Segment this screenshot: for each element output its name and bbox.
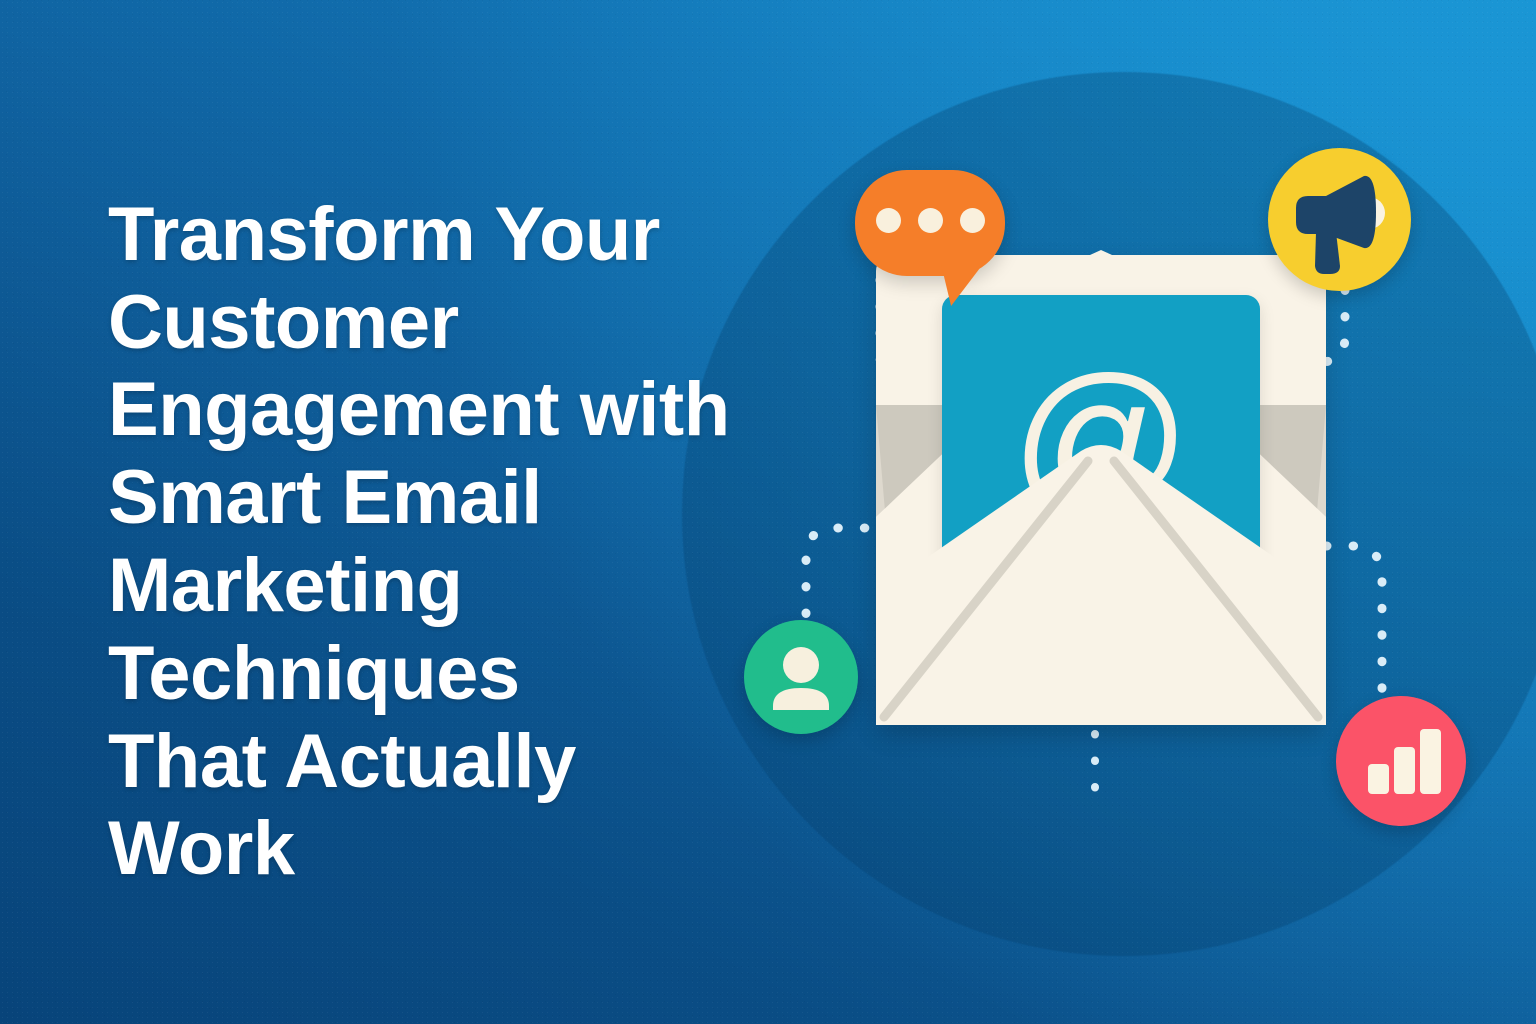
- megaphone-badge: [1268, 148, 1411, 291]
- chat-bubble-icon: [855, 170, 1005, 276]
- email-marketing-illustration: @: [700, 60, 1520, 960]
- person-icon: [744, 620, 858, 734]
- hero-banner: Transform Your Customer Engagement with …: [0, 0, 1536, 1024]
- chat-bubble-dots: [855, 208, 1005, 233]
- chat-dot-2: [918, 208, 943, 233]
- chat-dot-3: [960, 208, 985, 233]
- person-badge: [744, 620, 858, 734]
- open-envelope-icon: @: [876, 255, 1326, 725]
- bar-chart-badge: [1336, 696, 1466, 826]
- chat-dot-1: [876, 208, 901, 233]
- bar-chart-icon: [1336, 696, 1466, 826]
- megaphone-icon: [1268, 148, 1411, 291]
- connector-dots-below-envelope: [1085, 730, 1105, 810]
- envelope-front-flap: [876, 255, 1326, 725]
